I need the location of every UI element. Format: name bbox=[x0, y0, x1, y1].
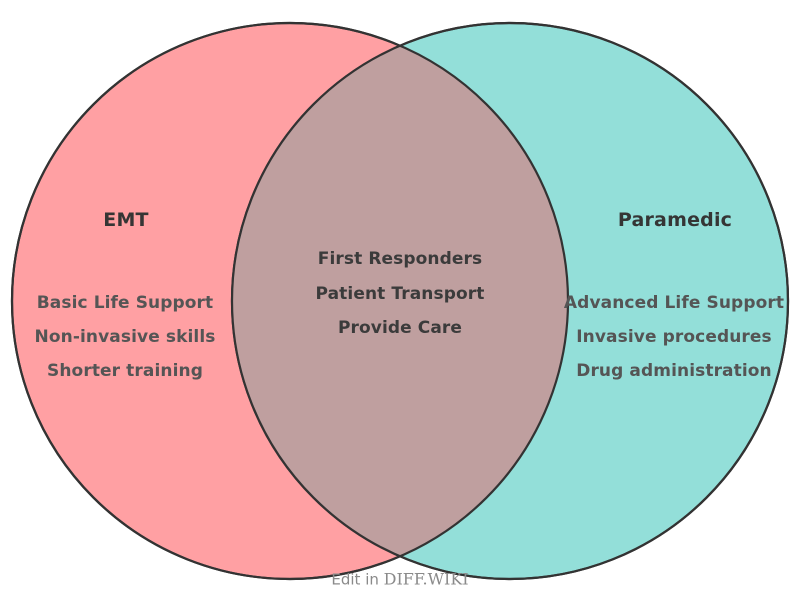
venn-diagram-canvas: EMT Paramedic Basic Life Support Non-inv… bbox=[0, 0, 800, 600]
venn-shapes bbox=[0, 0, 800, 600]
footer-prefix-label: Edit in bbox=[331, 571, 383, 589]
edit-in-diffwiki-link[interactable]: Edit in DIFF.WIKI bbox=[331, 570, 468, 589]
footer-brand-label: DIFF.WIKI bbox=[384, 570, 469, 589]
